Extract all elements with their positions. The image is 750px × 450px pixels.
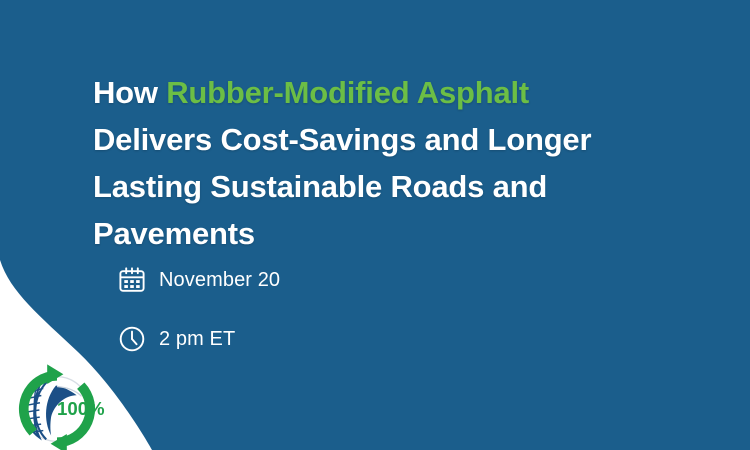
event-time-row: 2 pm ET <box>118 325 235 353</box>
event-date-row: November 20 <box>118 266 280 294</box>
headline-line-3: Lasting Sustainable Roads and <box>93 163 653 210</box>
webinar-promo-banner: How Rubber-Modified Asphalt Delivers Cos… <box>0 0 750 450</box>
logo-percent-label: 100% <box>57 398 105 419</box>
headline-line-2: Delivers Cost-Savings and Longer <box>93 116 653 163</box>
event-time-label: 2 pm ET <box>159 329 235 350</box>
event-date-label: November 20 <box>159 270 280 291</box>
calendar-icon <box>118 266 146 294</box>
headline-line-4: Pavements <box>93 210 653 257</box>
headline-line-1: How Rubber-Modified Asphalt <box>93 69 653 116</box>
page-title: How Rubber-Modified Asphalt Delivers Cos… <box>93 69 653 257</box>
headline-prefix: How <box>93 75 166 110</box>
clock-icon <box>118 325 146 353</box>
recycled-rubber-logo-graphic: 100% <box>8 360 106 450</box>
headline-accent: Rubber-Modified Asphalt <box>166 75 529 110</box>
recycled-rubber-logo: 100% <box>8 360 106 450</box>
